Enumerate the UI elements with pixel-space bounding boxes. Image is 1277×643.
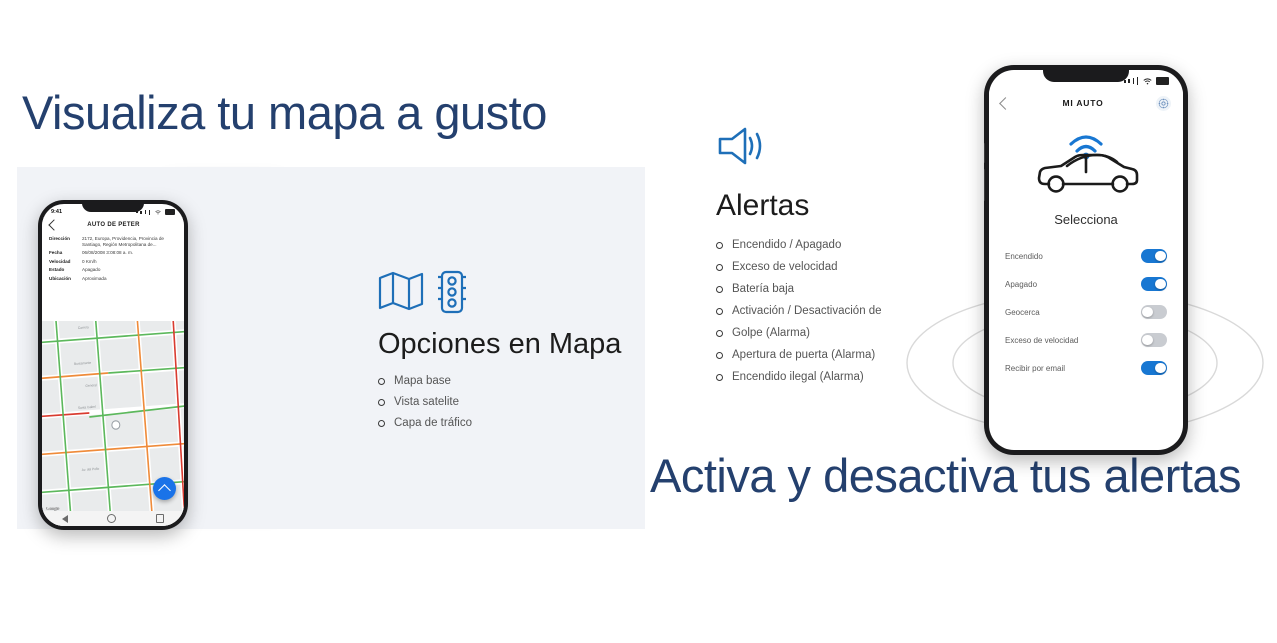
feature-title: Alertas [716,189,882,223]
signal-bar-icon [1137,77,1139,85]
signal-bar-icon [1128,79,1130,84]
info-key: Dirección [49,236,82,248]
toggle-row[interactable]: Encendido [1005,242,1167,270]
info-value: Aproximada [82,276,107,282]
app-bar: MI AUTO [989,90,1183,116]
table-row: Dirección 2172, Europa, Providencia, Pro… [49,236,177,248]
signal-bar-icon [1124,80,1126,83]
list-item-label: Activación / Desactivación de [732,305,882,317]
list-item-label: Vista satelite [394,396,459,408]
list-item: Encendido / Apagado [716,239,882,251]
toggle-switch-recibir-email[interactable] [1141,361,1167,375]
signal-bar-icon [140,211,142,214]
status-icons [1124,77,1169,85]
signal-bar-icon [149,210,151,215]
list-item: Exceso de velocidad [716,261,882,273]
feature-list: Encendido / Apagado Exceso de velocidad … [716,239,882,383]
bullet-icon [378,378,385,385]
car-signal-icon [1027,122,1145,198]
chevron-up-icon [158,484,171,497]
list-item-label: Exceso de velocidad [732,261,837,273]
folded-map-icon [378,270,424,312]
signal-bar-icon [1133,78,1135,84]
toggle-row[interactable]: Apagado [1005,270,1167,298]
toggle-knob [1142,335,1153,346]
gps-settings-icon[interactable] [1156,96,1171,111]
toggle-row[interactable]: Exceso de velocidad [1005,326,1167,354]
slide-canvas: Visualiza tu mapa a gusto 9:41 [0,0,1277,643]
info-key: Estado [49,267,82,273]
bullet-icon [716,286,723,293]
toggle-row[interactable]: Recibir por email [1005,354,1167,382]
info-key: Velocidad [49,259,82,265]
wifi-icon [155,210,161,215]
bullet-icon [716,308,723,315]
feature-list: Mapa base Vista satelite Capa de tráfico [378,375,621,429]
page-title-right: Activa y desactiva tus alertas [650,448,1241,503]
toggle-row[interactable]: Geocerca [1005,298,1167,326]
info-value: 0 Km/h [82,259,97,265]
toggle-switch-apagado[interactable] [1141,277,1167,291]
table-row: Ubicación Aproximada [49,276,177,282]
vehicle-info-table: Dirección 2172, Europa, Providencia, Pro… [42,233,184,288]
back-triangle-icon[interactable] [62,515,68,523]
list-item: Capa de tráfico [378,417,621,429]
info-value: 06/08/2008 3:08:08 a. m. [82,250,133,256]
list-item-label: Batería baja [732,283,794,295]
feature-icons [378,270,621,314]
status-time: 9:41 [51,209,62,215]
list-item: Batería baja [716,283,882,295]
list-item-label: Encendido ilegal (Alarma) [732,371,864,383]
feature-alerts: Alertas Encendido / Apagado Exceso de ve… [716,126,882,393]
list-item-label: Apertura de puerta (Alarma) [732,349,875,361]
toggle-label: Encendido [1005,252,1043,261]
toggle-switch-exceso-velocidad[interactable] [1141,333,1167,347]
info-value: Apagado [82,267,100,273]
list-item: Activación / Desactivación de [716,305,882,317]
appbar-title: AUTO DE PETER [58,222,169,228]
info-value: 2172, Europa, Providencia, Provincia de … [82,236,177,248]
toggle-knob [1155,279,1166,290]
phone-notch [82,200,144,212]
toggle-label: Apagado [1005,280,1037,289]
status-icons [136,209,175,215]
bullet-icon [716,374,723,381]
info-key: Fecha [49,250,82,256]
traffic-map-view[interactable]: Carrera Bustamante General Santa Isabel … [42,321,184,526]
bullet-icon [716,352,723,359]
table-row: Fecha 06/08/2008 3:08:08 a. m. [49,250,177,256]
toggle-knob [1155,251,1166,262]
signal-bar-icon [145,210,147,214]
bullet-icon [716,330,723,337]
gear-glyph [1158,98,1169,109]
toggle-switch-geocerca[interactable] [1141,305,1167,319]
list-item: Vista satelite [378,396,621,408]
svg-text:General: General [85,383,97,388]
toggle-switch-encendido[interactable] [1141,249,1167,263]
volume-down-button[interactable] [984,169,985,201]
wifi-icon [1143,78,1152,85]
table-row: Velocidad 0 Km/h [49,259,177,265]
bullet-icon [378,399,385,406]
bullet-icon [378,420,385,427]
toggle-label: Recibir por email [1005,364,1065,373]
list-item: Mapa base [378,375,621,387]
alert-toggle-list: Encendido Apagado Geocerca Exceso de vel… [989,242,1183,382]
app-bar: AUTO DE PETER [42,217,184,233]
phone-mockup-detail: 9:41 AUTO DE PETER [38,200,188,530]
list-item: Golpe (Alarma) [716,327,882,339]
list-item: Encendido ilegal (Alarma) [716,371,882,383]
phone-notch [1043,65,1129,82]
recenter-fab[interactable] [153,477,176,500]
list-item: Apertura de puerta (Alarma) [716,349,882,361]
select-label: Selecciona [989,212,1183,227]
battery-icon [165,209,175,215]
volume-up-button[interactable] [984,143,985,163]
toggle-knob [1142,307,1153,318]
feature-title: Opciones en Mapa [378,328,621,361]
speaker-alert-icon [716,126,766,166]
bullet-icon [716,242,723,249]
bullet-icon [716,264,723,271]
android-nav-bar [42,511,184,526]
list-item-label: Capa de tráfico [394,417,472,429]
recents-square-icon[interactable] [156,514,165,523]
traffic-light-icon [434,270,470,314]
hero-illustration [989,122,1183,198]
info-key: Ubicación [49,276,82,282]
appbar-title: MI AUTO [1010,98,1156,108]
page-title-left: Visualiza tu mapa a gusto [22,85,547,140]
toggle-label: Geocerca [1005,308,1040,317]
list-item-label: Mapa base [394,375,451,387]
list-item-label: Encendido / Apagado [732,239,841,251]
feature-map-options: Opciones en Mapa Mapa base Vista satelit… [378,270,621,438]
svg-text:Carrera: Carrera [78,325,89,330]
toggle-knob [1155,363,1166,374]
battery-icon [1156,77,1169,85]
phone-mockup-alerts: MI AUTO [984,65,1188,455]
toggle-label: Exceso de velocidad [1005,336,1078,345]
table-row: Estado Apagado [49,267,177,273]
home-circle-icon[interactable] [107,514,116,523]
list-item-label: Golpe (Alarma) [732,327,810,339]
